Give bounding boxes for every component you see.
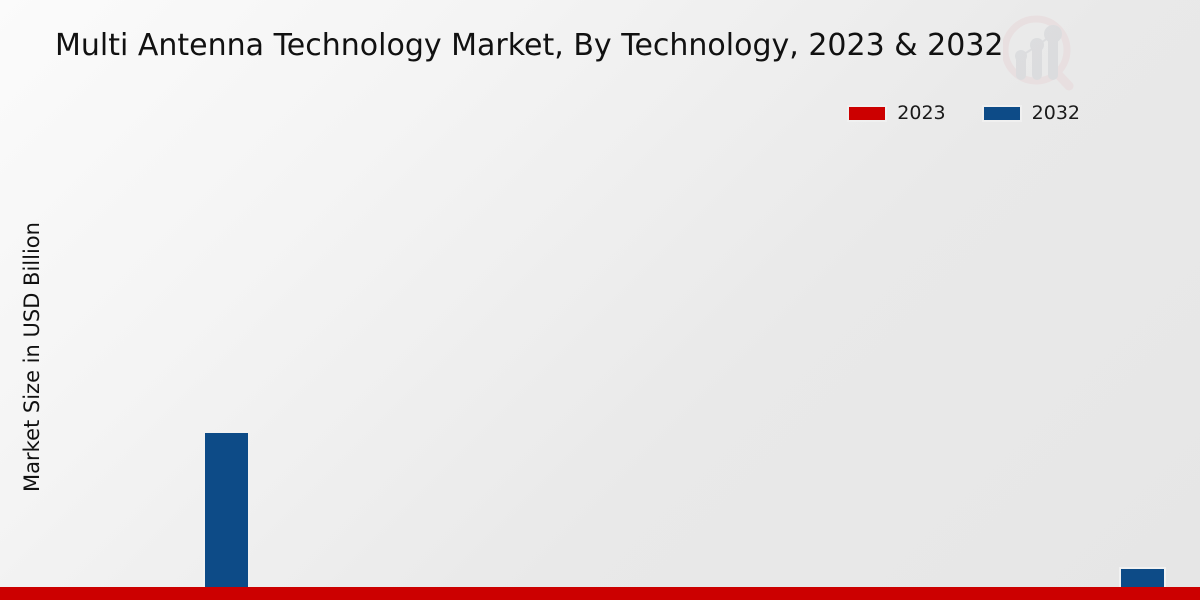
legend-swatch-2023-icon <box>847 105 887 122</box>
chart-title: Multi Antenna Technology Market, By Tech… <box>55 28 1004 63</box>
chart-legend: 2023 2032 <box>847 102 1080 124</box>
footer-bar <box>0 587 1200 600</box>
y-axis-title: Market Size in USD Billion <box>20 162 44 552</box>
legend-swatch-2032-icon <box>982 105 1022 122</box>
legend-item-2032[interactable]: 2032 <box>982 102 1080 124</box>
chart-canvas: Multi Antenna Technology Market, By Tech… <box>0 0 1200 600</box>
legend-item-2023[interactable]: 2023 <box>847 102 945 124</box>
plot-area: 43.13 MassiveMimoBeamformingAdaptiveAnte… <box>46 140 1194 482</box>
bar-2032-massive-mimo[interactable] <box>203 431 250 600</box>
legend-label-2023: 2023 <box>897 102 945 124</box>
legend-label-2032: 2032 <box>1032 102 1080 124</box>
watermark-logo-icon <box>1003 6 1077 102</box>
